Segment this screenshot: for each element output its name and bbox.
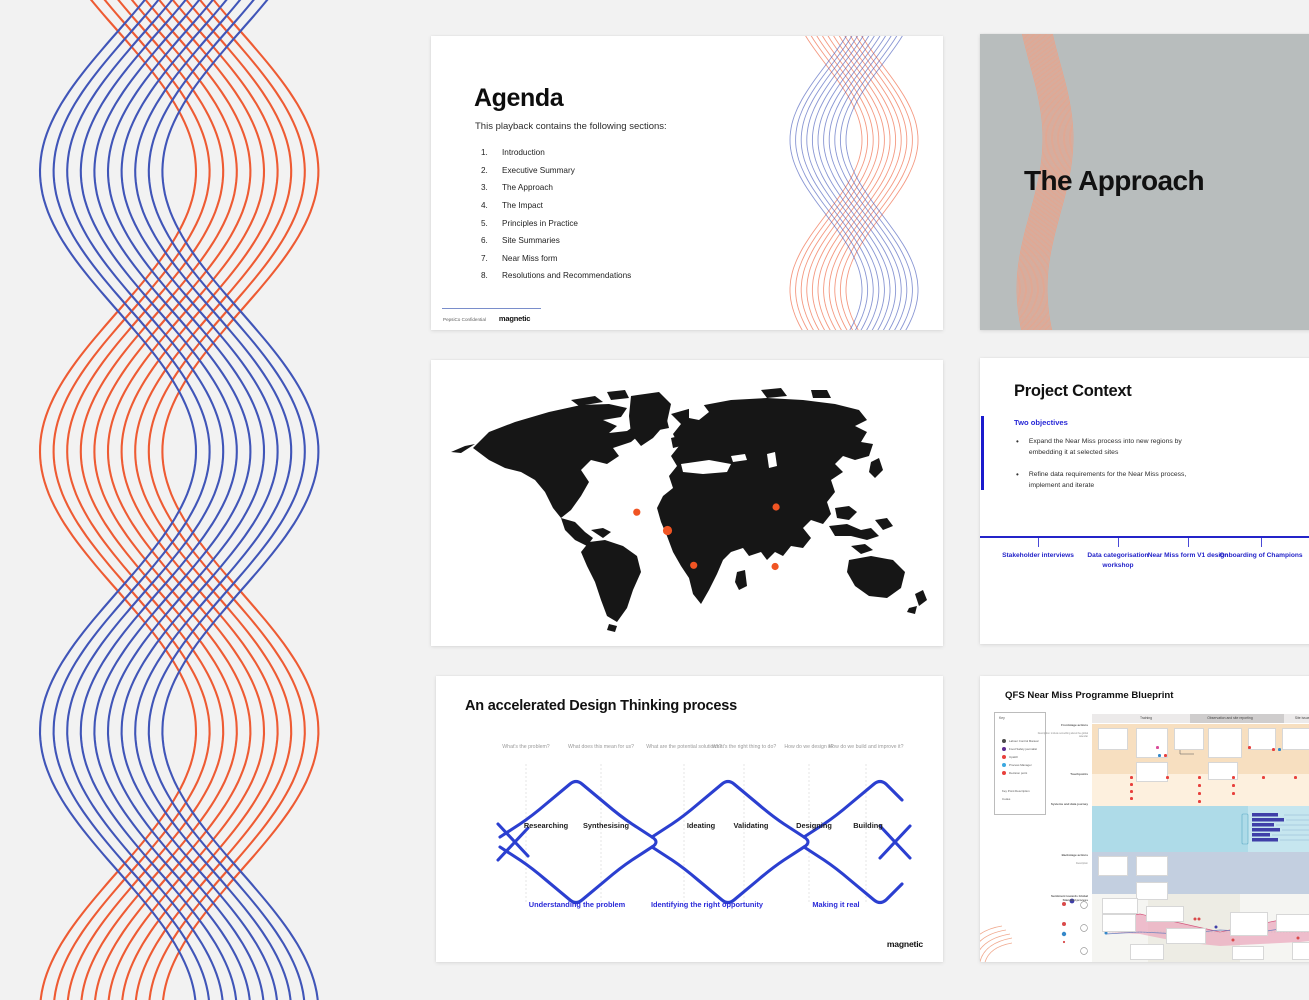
blueprint-marker-dot-icon [1166, 776, 1169, 779]
timeline-label: Sprints 1 - 3 [1286, 551, 1309, 561]
timeline-tick [1038, 538, 1039, 547]
agenda-item[interactable]: 7.Near Miss form [481, 250, 811, 268]
timeline-label: Stakeholder interviews [994, 551, 1082, 561]
slide-blueprint[interactable]: QFS Near Miss Programme Blueprint Key La… [980, 676, 1309, 962]
blueprint-marker-dot-icon [1158, 754, 1161, 757]
agenda-item-label: Near Miss form [502, 254, 558, 263]
agenda-item-label: Executive Summary [502, 166, 575, 175]
blueprint-marker-dot-icon [1130, 776, 1133, 779]
context-bullet: •Expand the Near Miss process into new r… [1016, 436, 1196, 458]
map-dot-indian-ocean[interactable] [772, 563, 779, 570]
blueprint-row-sublabel: Description [1036, 862, 1088, 865]
blueprint-marker-dot-icon [1248, 746, 1251, 749]
approach-title: The Approach [1024, 165, 1204, 197]
blueprint-sticky-note[interactable] [1174, 728, 1204, 750]
blueprint-sticky-note[interactable] [1130, 944, 1164, 960]
blueprint-column-header: Training [1104, 716, 1188, 720]
blueprint-column-header: Observation and site reporting [1188, 716, 1272, 720]
blueprint-sticky-note[interactable] [1136, 856, 1168, 876]
diamond-path [498, 782, 910, 903]
agenda-footer: PepsiCo Confidential magnetic [443, 314, 530, 323]
blueprint-row-label: Backstage actions [1042, 853, 1088, 857]
blueprint-marker-dot-icon [1164, 754, 1167, 757]
agenda-footer-rule [442, 308, 541, 309]
blueprint-marker-dot-icon [1198, 776, 1201, 779]
blueprint-marker-dot-icon [1130, 783, 1133, 786]
bullet-dot-icon: • [1016, 469, 1019, 491]
blueprint-sticky-note[interactable] [1102, 914, 1136, 932]
blueprint-marker-dot-icon [1130, 797, 1133, 800]
agenda-item[interactable]: 3.The Approach [481, 179, 811, 197]
agenda-item-number: 4. [481, 201, 502, 210]
agenda-item[interactable]: 6.Site Summaries [481, 232, 811, 250]
agenda-item-label: Site Summaries [502, 236, 560, 245]
bullet-dot-icon: • [1016, 436, 1019, 458]
blueprint-sticky-note[interactable] [1136, 882, 1168, 900]
blueprint-sticky-note[interactable] [1276, 914, 1309, 932]
map-dot-south-west-africa[interactable] [690, 562, 697, 569]
blueprint-marker-dot-icon [1294, 776, 1297, 779]
agenda-item[interactable]: 5.Principles in Practice [481, 214, 811, 232]
agenda-item[interactable]: 8.Resolutions and Recommendations [481, 267, 811, 285]
design-thinking-phase: Making it real [746, 900, 926, 909]
blueprint-sticky-note[interactable] [1098, 856, 1128, 876]
blueprint-marker-dot-icon [1198, 800, 1201, 803]
slide-the-approach[interactable]: The Approach [980, 34, 1309, 330]
design-thinking-stage: Building [826, 821, 910, 830]
agenda-list: 1.Introduction2.Executive Summary3.The A… [481, 144, 811, 285]
slide-project-context[interactable]: Project Context Two objectives •Expand t… [980, 358, 1309, 644]
agenda-subtitle: This playback contains the following sec… [475, 121, 667, 132]
blueprint-marker-dot-icon [1278, 748, 1281, 751]
agenda-item-label: Principles in Practice [502, 219, 578, 228]
blueprint-marker-dot-icon [1130, 790, 1133, 793]
blueprint-corner-arcs [980, 880, 1012, 962]
context-objectives-label: Two objectives [1014, 418, 1068, 427]
design-thinking-question: How do we build and improve it? [822, 744, 910, 752]
blueprint-marker-dot-icon [1232, 784, 1235, 787]
context-title: Project Context [1014, 382, 1131, 401]
context-bullet-text: Refine data requirements for the Near Mi… [1029, 469, 1196, 491]
blueprint-sticky-note[interactable] [1136, 728, 1168, 758]
blueprint-marker-dot-icon [1232, 792, 1235, 795]
design-thinking-question: What does this mean for us? [557, 744, 645, 752]
blueprint-column-header: Site issue resolution [1272, 716, 1309, 720]
blueprint-sticky-note[interactable] [1098, 728, 1128, 750]
agenda-item[interactable]: 4.The Impact [481, 197, 811, 215]
agenda-title: Agenda [474, 84, 563, 113]
screenshot-canvas: Agenda This playback contains the follow… [0, 0, 1309, 1000]
blueprint-marker-dot-icon [1198, 792, 1201, 795]
blueprint-marker-dot-icon [1156, 746, 1159, 749]
world-map-graphic [431, 360, 943, 646]
agenda-item-number: 5. [481, 219, 502, 228]
map-dot-south-asia[interactable] [773, 503, 780, 510]
blueprint-sticky-note[interactable] [1282, 728, 1309, 750]
blueprint-marker-dot-icon [1262, 776, 1265, 779]
agenda-item-number: 8. [481, 271, 502, 280]
agenda-item-number: 2. [481, 166, 502, 175]
blueprint-sticky-note[interactable] [1232, 946, 1264, 960]
map-dot-west-africa[interactable] [663, 526, 672, 535]
blueprint-sticky-note[interactable] [1166, 928, 1206, 944]
magnetic-logo: magnetic [499, 314, 530, 323]
blueprint-row-label: Sentiment towards Global Standard proces… [1042, 894, 1088, 902]
confidential-label: PepsiCo Confidential [443, 317, 486, 322]
agenda-item-label: The Impact [502, 201, 543, 210]
slide-agenda[interactable]: Agenda This playback contains the follow… [431, 36, 943, 330]
timeline-tick [1261, 538, 1262, 547]
blueprint-marker-dot-icon [1272, 748, 1275, 751]
blueprint-sticky-note[interactable] [1248, 728, 1276, 750]
context-timeline-axis [980, 536, 1309, 538]
map-dot-atlantic-west-africa[interactable] [633, 509, 640, 516]
blueprint-marker-dot-icon [1232, 776, 1235, 779]
background-braid-pattern [0, 0, 400, 1000]
blueprint-row-label: Systems and data journey [1042, 802, 1088, 806]
blueprint-sticky-note[interactable] [1136, 762, 1168, 782]
context-bullet-list: •Expand the Near Miss process into new r… [1016, 436, 1196, 502]
context-accent-bar [981, 416, 984, 490]
agenda-item-number: 7. [481, 254, 502, 263]
double-diamond-diagram [436, 676, 943, 962]
context-bullet-text: Expand the Near Miss process into new re… [1029, 436, 1196, 458]
blueprint-sticky-note[interactable] [1208, 728, 1242, 758]
agenda-item-label: Resolutions and Recommendations [502, 271, 631, 280]
blueprint-sticky-note[interactable] [1102, 898, 1138, 914]
agenda-item[interactable]: 2.Executive Summary [481, 162, 811, 180]
map-landmasses [451, 388, 927, 632]
agenda-item-number: 1. [481, 148, 502, 157]
timeline-tick [1188, 538, 1189, 547]
timeline-tick [1118, 538, 1119, 547]
blueprint-row-sublabel: Description: include something about the… [1036, 732, 1088, 739]
slide-design-thinking[interactable]: An accelerated Design Thinking process W… [436, 676, 943, 962]
blueprint-row-label: Touchpoints [1042, 772, 1088, 776]
agenda-item-number: 3. [481, 183, 502, 192]
blueprint-marker-dot-icon [1198, 784, 1201, 787]
blueprint-sticky-note[interactable] [1230, 912, 1268, 936]
blueprint-sticky-note[interactable] [1146, 906, 1184, 922]
agenda-item-number: 6. [481, 236, 502, 245]
agenda-item[interactable]: 1.Introduction [481, 144, 811, 162]
magnetic-logo: magnetic [887, 939, 923, 949]
slide-world-map[interactable] [431, 360, 943, 646]
blueprint-row-label: Frontstage actions [1042, 723, 1088, 727]
agenda-item-label: The Approach [502, 183, 553, 192]
agenda-item-label: Introduction [502, 148, 545, 157]
design-thinking-stage: Synthesising [564, 821, 648, 830]
blueprint-sticky-note[interactable] [1292, 942, 1309, 960]
context-bullet: •Refine data requirements for the Near M… [1016, 469, 1196, 491]
